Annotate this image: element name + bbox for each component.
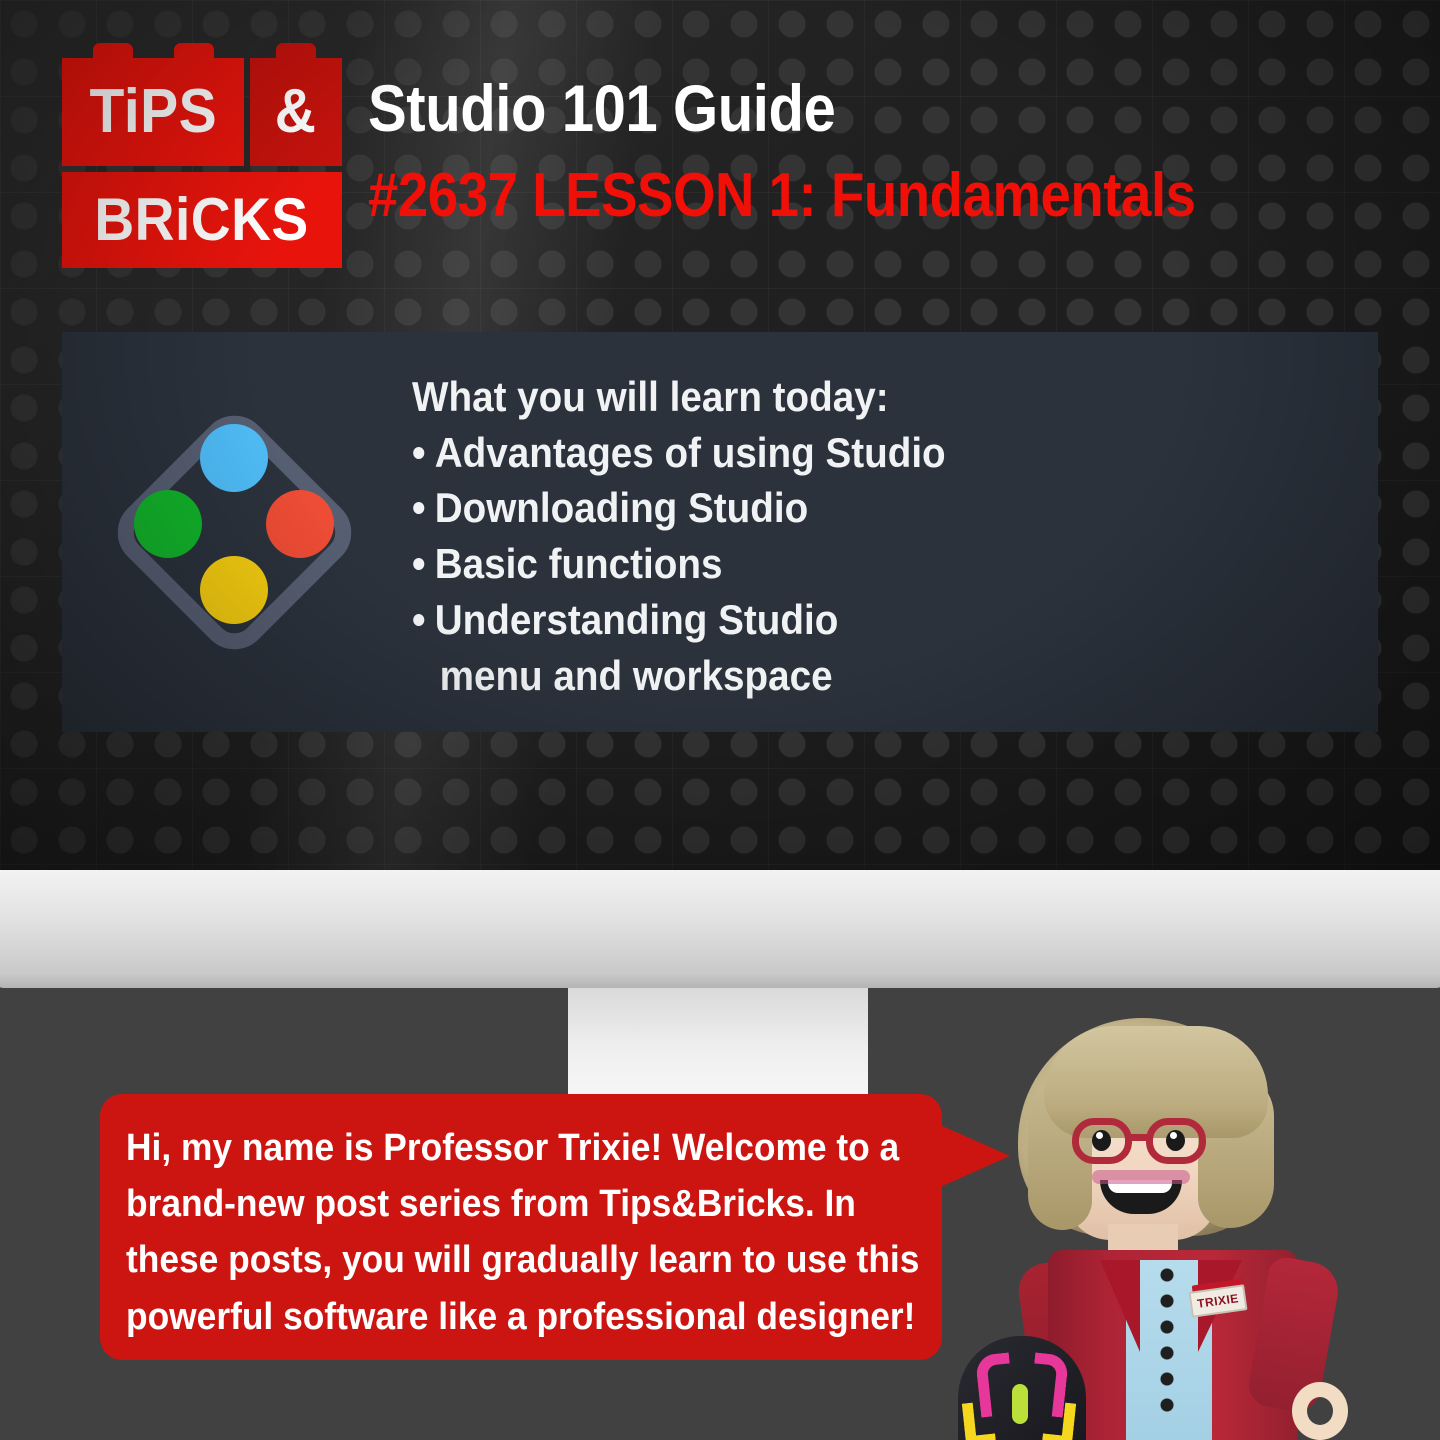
eye-glint-right [1170,1132,1177,1139]
studio-app-logo-icon [100,398,368,666]
logo-text-tips: TiPS [89,81,217,143]
brick-stud [276,43,316,61]
brick-studs [250,43,342,61]
logo-text-bricks: BRiCKS [95,190,309,250]
speech-line: these posts, you will gradually learn to… [126,1232,851,1288]
necklace [1158,1266,1176,1416]
speech-bubble: Hi, my name is Professor Trixie! Welcome… [100,1094,942,1360]
bullet-icon: • [412,429,426,476]
learning-objectives-heading: What you will learn today: [412,370,946,425]
brick-studs [62,43,244,61]
brick-stud [93,43,133,61]
list-item-label: Basic functions [435,540,723,587]
list-item: •Advantages of using Studio [412,425,946,481]
hand-right [1292,1382,1348,1440]
helmet-marking-yellow-left [962,1401,996,1440]
list-item-label: Understanding Studio [435,596,839,643]
infographic-canvas: TiPS & BRiCKS Studio 101 Guide #2637 LES… [0,0,1440,1440]
professor-trixie-minifigure: TRIXIE [940,1010,1380,1440]
list-item: •Basic functions [412,536,946,592]
learning-objectives-list: What you will learn today: •Advantages o… [412,370,992,704]
list-item-continuation: menu and workspace [412,648,946,704]
page-title: Studio 101 Guide [368,74,1257,143]
monitor-bezel-chin [0,870,1440,988]
speech-line: Hi, my name is Professor Trixie! Welcome… [126,1120,851,1176]
upper-lip [1092,1170,1190,1184]
eye-glint-left [1096,1132,1103,1139]
name-badge-label: TRIXIE [1197,1292,1240,1310]
speech-line: brand-new post series from Tips&Bricks. … [126,1176,851,1232]
blazer-collar-left [1100,1260,1140,1352]
logo-brick-ampersand: & [250,58,342,166]
logo-text-ampersand: & [275,81,317,143]
bullet-icon: • [412,540,426,587]
speech-bubble-tail [938,1124,1010,1188]
tips-and-bricks-logo: TiPS & BRiCKS [62,58,352,268]
lesson-overview-panel: What you will learn today: •Advantages o… [62,332,1378,732]
logo-brick-tips: TiPS [62,58,244,166]
list-item-label: Advantages of using Studio [435,429,946,476]
logo-row-bottom: BRiCKS [62,166,352,268]
list-item: •Understanding Studio [412,592,946,648]
monitor-screen: TiPS & BRiCKS Studio 101 Guide #2637 LES… [0,0,1440,870]
bullet-icon: • [412,484,426,531]
eyeglasses-icon [1072,1118,1220,1170]
list-item: •Downloading Studio [412,480,946,536]
green-dot-icon [134,490,202,558]
red-dot-icon [266,490,334,558]
logo-row-top: TiPS & [62,58,352,166]
blue-dot-icon [200,424,268,492]
glasses-bridge [1130,1134,1150,1141]
yellow-dot-icon [200,556,268,624]
helmet-marking-green [1012,1384,1028,1424]
logo-brick-bricks: BRiCKS [62,172,342,268]
lesson-subtitle: #2637 LESSON 1: Fundamentals [368,163,1257,228]
header-text-block: Studio 101 Guide #2637 LESSON 1: Fundame… [368,74,1378,228]
list-item-label: Downloading Studio [435,484,808,531]
monitor-stand [568,988,868,1100]
speech-line: powerful software like a professional de… [126,1289,851,1345]
brick-stud [174,43,214,61]
bullet-icon: • [412,596,426,643]
helmet-marking-yellow-right [1042,1401,1076,1440]
